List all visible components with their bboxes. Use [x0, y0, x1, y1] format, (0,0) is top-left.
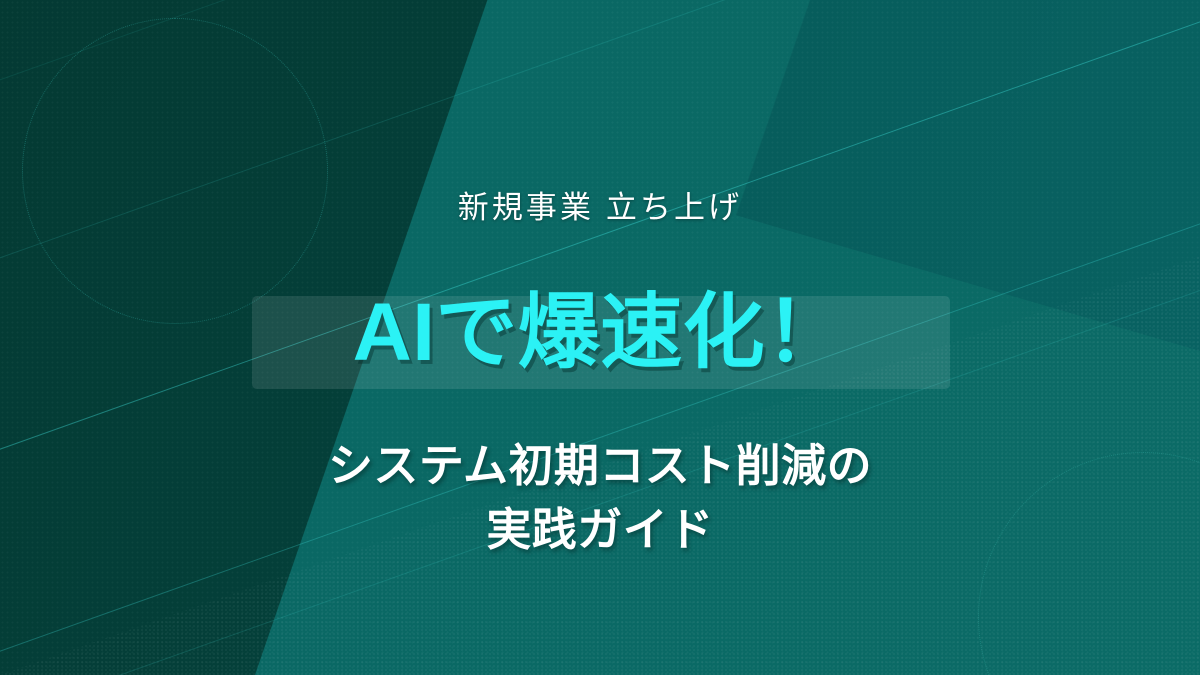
slide-tagline-line-1: システム初期コスト削減の: [0, 434, 1200, 498]
slide-eyebrow: 新規事業 立ち上げ: [458, 182, 743, 227]
title-slide: 新規事業 立ち上げ AIで爆速化！ システム初期コスト削減の 実践ガイド: [0, 0, 1200, 675]
slide-content: 新規事業 立ち上げ AIで爆速化！ システム初期コスト削減の 実践ガイド: [0, 0, 1200, 675]
slide-tagline-line-2: 実践ガイド: [0, 498, 1200, 562]
slide-tagline: システム初期コスト削減の 実践ガイド: [0, 434, 1200, 562]
slide-headline: AIで爆速化！: [0, 292, 1200, 374]
